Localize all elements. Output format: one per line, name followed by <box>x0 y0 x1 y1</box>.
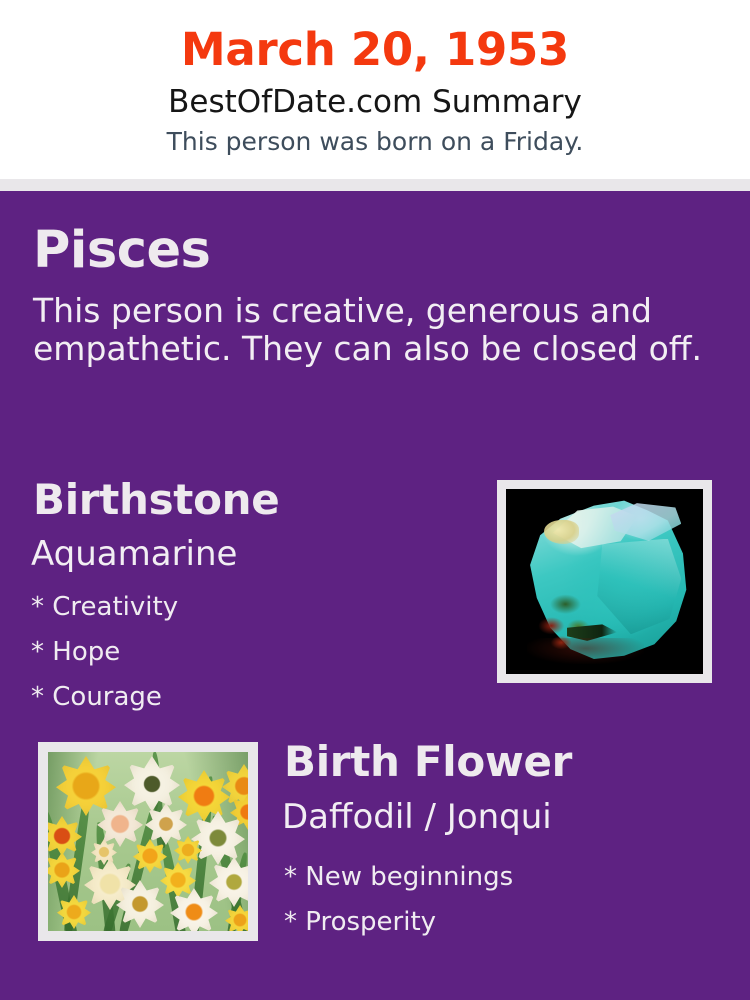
birth-flower-heading: Birth Flower <box>284 738 572 786</box>
birthstone-trait-list: * Creativity * Hope * Courage <box>31 585 471 720</box>
birth-flower-photo-frame <box>38 742 258 941</box>
birthstone-name: Aquamarine <box>31 534 237 574</box>
list-item: * New beginnings <box>284 855 724 900</box>
site-summary-subtitle: BestOfDate.com Summary <box>0 84 750 120</box>
birth-flower-photo <box>48 752 248 931</box>
list-item: * Creativity <box>31 585 471 630</box>
list-item: * Courage <box>31 675 471 720</box>
born-weekday-text: This person was born on a Friday. <box>0 127 750 157</box>
daffodil-bloom <box>56 756 116 816</box>
birthstone-heading: Birthstone <box>33 476 279 524</box>
zodiac-sign-title: Pisces <box>33 222 210 280</box>
daffodil-bloom <box>178 770 230 822</box>
birth-date-title: March 20, 1953 <box>0 24 750 76</box>
crystal-shadow <box>527 638 645 664</box>
header-divider <box>0 179 750 191</box>
list-item: * Prosperity <box>284 900 724 945</box>
zodiac-description: This person is creative, generous and em… <box>33 292 705 368</box>
list-item: * Hope <box>31 630 471 675</box>
daffodil-field-icon <box>48 752 248 931</box>
birth-flower-trait-list: * New beginnings * Prosperity <box>284 855 724 945</box>
birth-flower-name: Daffodil / Jonqui <box>282 797 552 837</box>
summary-header: March 20, 1953 BestOfDate.com Summary Th… <box>0 0 750 179</box>
birthstone-photo-frame <box>497 480 712 683</box>
aquamarine-crystal-icon <box>520 499 688 664</box>
birthstone-photo <box>506 489 703 674</box>
crystal-yellow-patch <box>544 520 579 543</box>
daffodil-bloom <box>91 839 117 865</box>
daffodil-bloom <box>124 756 180 812</box>
